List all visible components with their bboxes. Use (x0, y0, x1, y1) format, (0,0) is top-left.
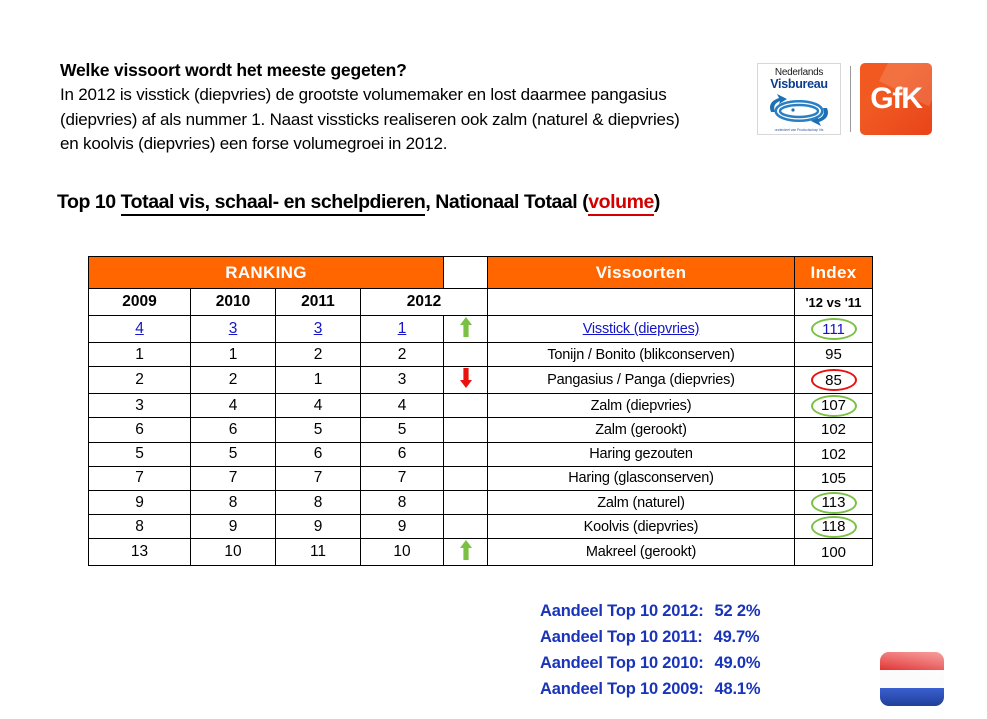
header-vissoorten: Vissoorten (488, 257, 795, 289)
index-value: 100 (821, 544, 846, 561)
rank-value: 3 (314, 320, 323, 337)
cell-species-name: Koolvis (diepvries) (488, 515, 795, 539)
top10-ranking-table: RANKING Vissoorten Index 2009 2010 2011 … (88, 256, 873, 566)
header-arrow-spacer (444, 257, 488, 289)
rank-value: 2 (314, 346, 323, 363)
cell-index-value: 95 (795, 343, 873, 367)
cell-species-name: Tonijn / Bonito (blikconserven) (488, 343, 795, 367)
cell-rank-2011: 2 (276, 343, 361, 367)
cell-rank-2012: 10 (361, 539, 444, 566)
rank-value: 11 (310, 543, 326, 560)
header-index: Index (795, 257, 873, 289)
cell-index-value: 85 (795, 367, 873, 394)
stat-value: 49.0% (715, 650, 761, 676)
flag-stripe-red (880, 652, 944, 670)
rank-value: 3 (135, 397, 144, 414)
stat-value: 49.7% (714, 624, 760, 650)
subheader-index-compare: '12 vs '11 (795, 289, 873, 316)
cell-rank-2012: 2 (361, 343, 444, 367)
subheader-2010: 2010 (191, 289, 276, 316)
cell-rank-2009: 4 (89, 316, 191, 343)
cell-species-name: Visstick (diepvries) (488, 316, 795, 343)
rank-value: 6 (398, 445, 407, 462)
subtitle-prefix: Top 10 (57, 191, 121, 213)
cell-species-name: Zalm (naturel) (488, 490, 795, 514)
cell-trend-arrow (444, 343, 488, 367)
cell-rank-2009: 1 (89, 343, 191, 367)
index-value: 102 (821, 421, 846, 438)
rank-value: 7 (135, 469, 144, 486)
stat-line: Aandeel Top 10 2010:49.0% (540, 650, 760, 676)
cell-rank-2012: 4 (361, 394, 444, 418)
flag-stripe-blue (880, 688, 944, 706)
cell-rank-2012: 5 (361, 418, 444, 442)
rank-value: 3 (398, 371, 407, 388)
rank-value: 7 (314, 469, 323, 486)
cell-trend-arrow (444, 367, 488, 394)
rank-value: 7 (398, 469, 407, 486)
cell-species-name: Zalm (diepvries) (488, 394, 795, 418)
cell-rank-2011: 11 (276, 539, 361, 566)
cell-rank-2010: 7 (191, 466, 276, 490)
cell-rank-2010: 1 (191, 343, 276, 367)
index-value: 102 (821, 446, 846, 463)
table-row: 4331Visstick (diepvries) 111 (89, 316, 873, 343)
cell-rank-2010: 10 (191, 539, 276, 566)
cell-rank-2009: 13 (89, 539, 191, 566)
rank-value: 9 (229, 518, 238, 535)
cell-rank-2011: 6 (276, 442, 361, 466)
rank-value: 4 (229, 397, 238, 414)
table-row: 2213Pangasius / Panga (diepvries)85 (89, 367, 873, 394)
species-label: Visstick (diepvries) (583, 321, 700, 337)
table-row: 7777Haring (glasconserven)105 (89, 466, 873, 490)
rank-value: 1 (398, 320, 407, 337)
table-row: 9888Zalm (naturel)113 (89, 490, 873, 514)
table-row: 5566Haring gezouten102 (89, 442, 873, 466)
rank-value: 6 (314, 445, 323, 462)
index-value: 107 (821, 397, 846, 414)
cell-rank-2010: 3 (191, 316, 276, 343)
flag-stripe-white (880, 670, 944, 688)
rank-value: 9 (314, 518, 323, 535)
rank-value: 5 (229, 445, 238, 462)
cell-index-value: 113 (795, 490, 873, 514)
cell-rank-2012: 9 (361, 515, 444, 539)
cell-rank-2009: 9 (89, 490, 191, 514)
table-body: 4331Visstick (diepvries) 1111122Tonijn /… (89, 316, 873, 566)
cell-rank-2011: 3 (276, 316, 361, 343)
rank-value: 13 (131, 543, 148, 560)
rank-value: 10 (224, 543, 241, 560)
index-value: 118 (822, 518, 846, 535)
stat-value: 48.1% (715, 676, 761, 702)
visbureau-line2: Visbureau (770, 78, 828, 91)
table-row: 13101110Makreel (gerookt)100 (89, 539, 873, 566)
subtitle-middle: , Nationaal Totaal ( (425, 191, 588, 213)
species-label: Zalm (naturel) (597, 495, 684, 511)
cell-rank-2010: 5 (191, 442, 276, 466)
cell-species-name: Haring (glasconserven) (488, 466, 795, 490)
cell-index-value: 102 (795, 442, 873, 466)
rank-value: 7 (229, 469, 238, 486)
cell-trend-arrow (444, 466, 488, 490)
nederlands-visbureau-logo: Nederlands Visbureau onderdeel van Produ… (757, 63, 841, 135)
cell-rank-2009: 7 (89, 466, 191, 490)
cell-rank-2009: 3 (89, 394, 191, 418)
cell-index-value: 111 (795, 316, 873, 343)
cell-rank-2011: 1 (276, 367, 361, 394)
chart-subtitle: Top 10 Totaal vis, schaal- en schelpdier… (57, 191, 660, 214)
rank-value: 1 (135, 346, 144, 363)
cell-index-value: 118 (795, 515, 873, 539)
index-value: 85 (825, 372, 842, 389)
header-ranking: RANKING (89, 257, 444, 289)
rank-value: 6 (229, 421, 238, 438)
index-value: 95 (825, 346, 842, 363)
species-label: Zalm (gerookt) (595, 422, 686, 438)
fish-circle-icon (763, 92, 835, 128)
cell-trend-arrow (444, 490, 488, 514)
species-label: Haring (glasconserven) (568, 470, 714, 486)
stat-value: 52 2% (715, 598, 761, 624)
rank-value: 8 (398, 494, 407, 511)
subtitle-suffix: ) (654, 191, 660, 213)
rank-value: 5 (398, 421, 407, 438)
species-label: Pangasius / Panga (diepvries) (547, 372, 735, 388)
species-label: Makreel (gerookt) (586, 544, 696, 560)
rank-value: 5 (135, 445, 144, 462)
logo-divider (850, 66, 851, 132)
trend-arrow-up-icon (459, 316, 473, 338)
gfk-logo-text: GfK (870, 82, 921, 116)
rank-value: 8 (135, 518, 144, 535)
rank-value: 2 (135, 371, 144, 388)
subheader-2009: 2009 (89, 289, 191, 316)
cell-trend-arrow (444, 515, 488, 539)
cell-rank-2009: 8 (89, 515, 191, 539)
cell-trend-arrow (444, 394, 488, 418)
share-top10-stats: Aandeel Top 10 2012:52 2%Aandeel Top 10 … (540, 598, 760, 702)
rank-value: 2 (398, 346, 407, 363)
cell-rank-2011: 8 (276, 490, 361, 514)
cell-index-value: 105 (795, 466, 873, 490)
rank-value: 4 (135, 320, 144, 337)
trend-arrow-up-icon (459, 539, 473, 561)
cell-species-name: Pangasius / Panga (diepvries) (488, 367, 795, 394)
cell-trend-arrow (444, 316, 488, 343)
cell-rank-2011: 9 (276, 515, 361, 539)
cell-rank-2012: 8 (361, 490, 444, 514)
rank-value: 9 (135, 494, 144, 511)
rank-value: 3 (229, 320, 238, 337)
cell-rank-2010: 8 (191, 490, 276, 514)
table-row: 6655Zalm (gerookt)102 (89, 418, 873, 442)
stat-label: Aandeel Top 10 2012: (540, 598, 704, 624)
cell-index-value: 102 (795, 418, 873, 442)
cell-rank-2011: 7 (276, 466, 361, 490)
cell-rank-2012: 7 (361, 466, 444, 490)
visbureau-footnote: onderdeel van Productschap Vis (775, 128, 824, 133)
gfk-logo: GfK (860, 63, 932, 135)
cell-rank-2012: 1 (361, 316, 444, 343)
stat-line: Aandeel Top 10 2012:52 2% (540, 598, 760, 624)
index-value: 111 (822, 321, 845, 338)
cell-rank-2010: 4 (191, 394, 276, 418)
cell-trend-arrow (444, 418, 488, 442)
species-label: Haring gezouten (589, 446, 692, 462)
subheader-2012: 2012 (361, 289, 488, 316)
species-label: Koolvis (diepvries) (584, 519, 699, 535)
rank-value: 10 (393, 543, 410, 560)
cell-index-value: 107 (795, 394, 873, 418)
index-value: 105 (821, 470, 846, 487)
species-label: Tonijn / Bonito (blikconserven) (547, 347, 734, 363)
trend-arrow-down-icon (459, 367, 473, 389)
cell-rank-2009: 5 (89, 442, 191, 466)
subtitle-measure: volume (588, 191, 654, 216)
cell-trend-arrow (444, 442, 488, 466)
rank-value: 8 (314, 494, 323, 511)
header-text-block: Welke vissoort wordt het meeste gegeten?… (60, 58, 760, 157)
subheader-2011: 2011 (276, 289, 361, 316)
stat-line: Aandeel Top 10 2011:49.7% (540, 624, 760, 650)
rank-value: 8 (229, 494, 238, 511)
species-label: Zalm (diepvries) (591, 398, 692, 414)
cell-rank-2010: 2 (191, 367, 276, 394)
header-line-2: (diepvries) af als nummer 1. Naast visst… (60, 108, 760, 133)
subheader-species-blank (488, 289, 795, 316)
netherlands-flag-icon (880, 652, 944, 706)
header-description: In 2012 is visstick (diepvries) de groot… (60, 83, 760, 157)
logo-group: Nederlands Visbureau onderdeel van Produ… (757, 63, 932, 135)
rank-value: 5 (314, 421, 323, 438)
cell-species-name: Makreel (gerookt) (488, 539, 795, 566)
cell-rank-2012: 3 (361, 367, 444, 394)
cell-species-name: Haring gezouten (488, 442, 795, 466)
cell-rank-2010: 9 (191, 515, 276, 539)
header-line-1: In 2012 is visstick (diepvries) de groot… (60, 83, 760, 108)
stat-line: Aandeel Top 10 2009:48.1% (540, 676, 760, 702)
cell-rank-2012: 6 (361, 442, 444, 466)
cell-rank-2010: 6 (191, 418, 276, 442)
cell-rank-2009: 6 (89, 418, 191, 442)
stat-label: Aandeel Top 10 2010: (540, 650, 704, 676)
table-row: 8999Koolvis (diepvries)118 (89, 515, 873, 539)
cell-index-value: 100 (795, 539, 873, 566)
rank-value: 1 (314, 371, 323, 388)
stat-label: Aandeel Top 10 2009: (540, 676, 704, 702)
cell-trend-arrow (444, 539, 488, 566)
table-group-header-row: RANKING Vissoorten Index (89, 257, 873, 289)
stat-label: Aandeel Top 10 2011: (540, 624, 703, 650)
index-value: 113 (822, 494, 846, 511)
subtitle-scope: Totaal vis, schaal- en schelpdieren (121, 191, 426, 216)
table-row: 1122Tonijn / Bonito (blikconserven)95 (89, 343, 873, 367)
page-title: Welke vissoort wordt het meeste gegeten? (60, 58, 760, 83)
slide-canvas: Welke vissoort wordt het meeste gegeten?… (0, 0, 987, 719)
cell-rank-2011: 5 (276, 418, 361, 442)
rank-value: 9 (398, 518, 407, 535)
cell-rank-2009: 2 (89, 367, 191, 394)
table-row: 3444Zalm (diepvries)107 (89, 394, 873, 418)
rank-value: 1 (229, 346, 238, 363)
rank-value: 6 (135, 421, 144, 438)
rank-value: 2 (229, 371, 238, 388)
rank-value: 4 (314, 397, 323, 414)
cell-species-name: Zalm (gerookt) (488, 418, 795, 442)
cell-rank-2011: 4 (276, 394, 361, 418)
rank-value: 4 (398, 397, 407, 414)
table-subheader-row: 2009 2010 2011 2012 '12 vs '11 (89, 289, 873, 316)
header-line-3: en koolvis (diepvries) een forse volumeg… (60, 132, 760, 157)
